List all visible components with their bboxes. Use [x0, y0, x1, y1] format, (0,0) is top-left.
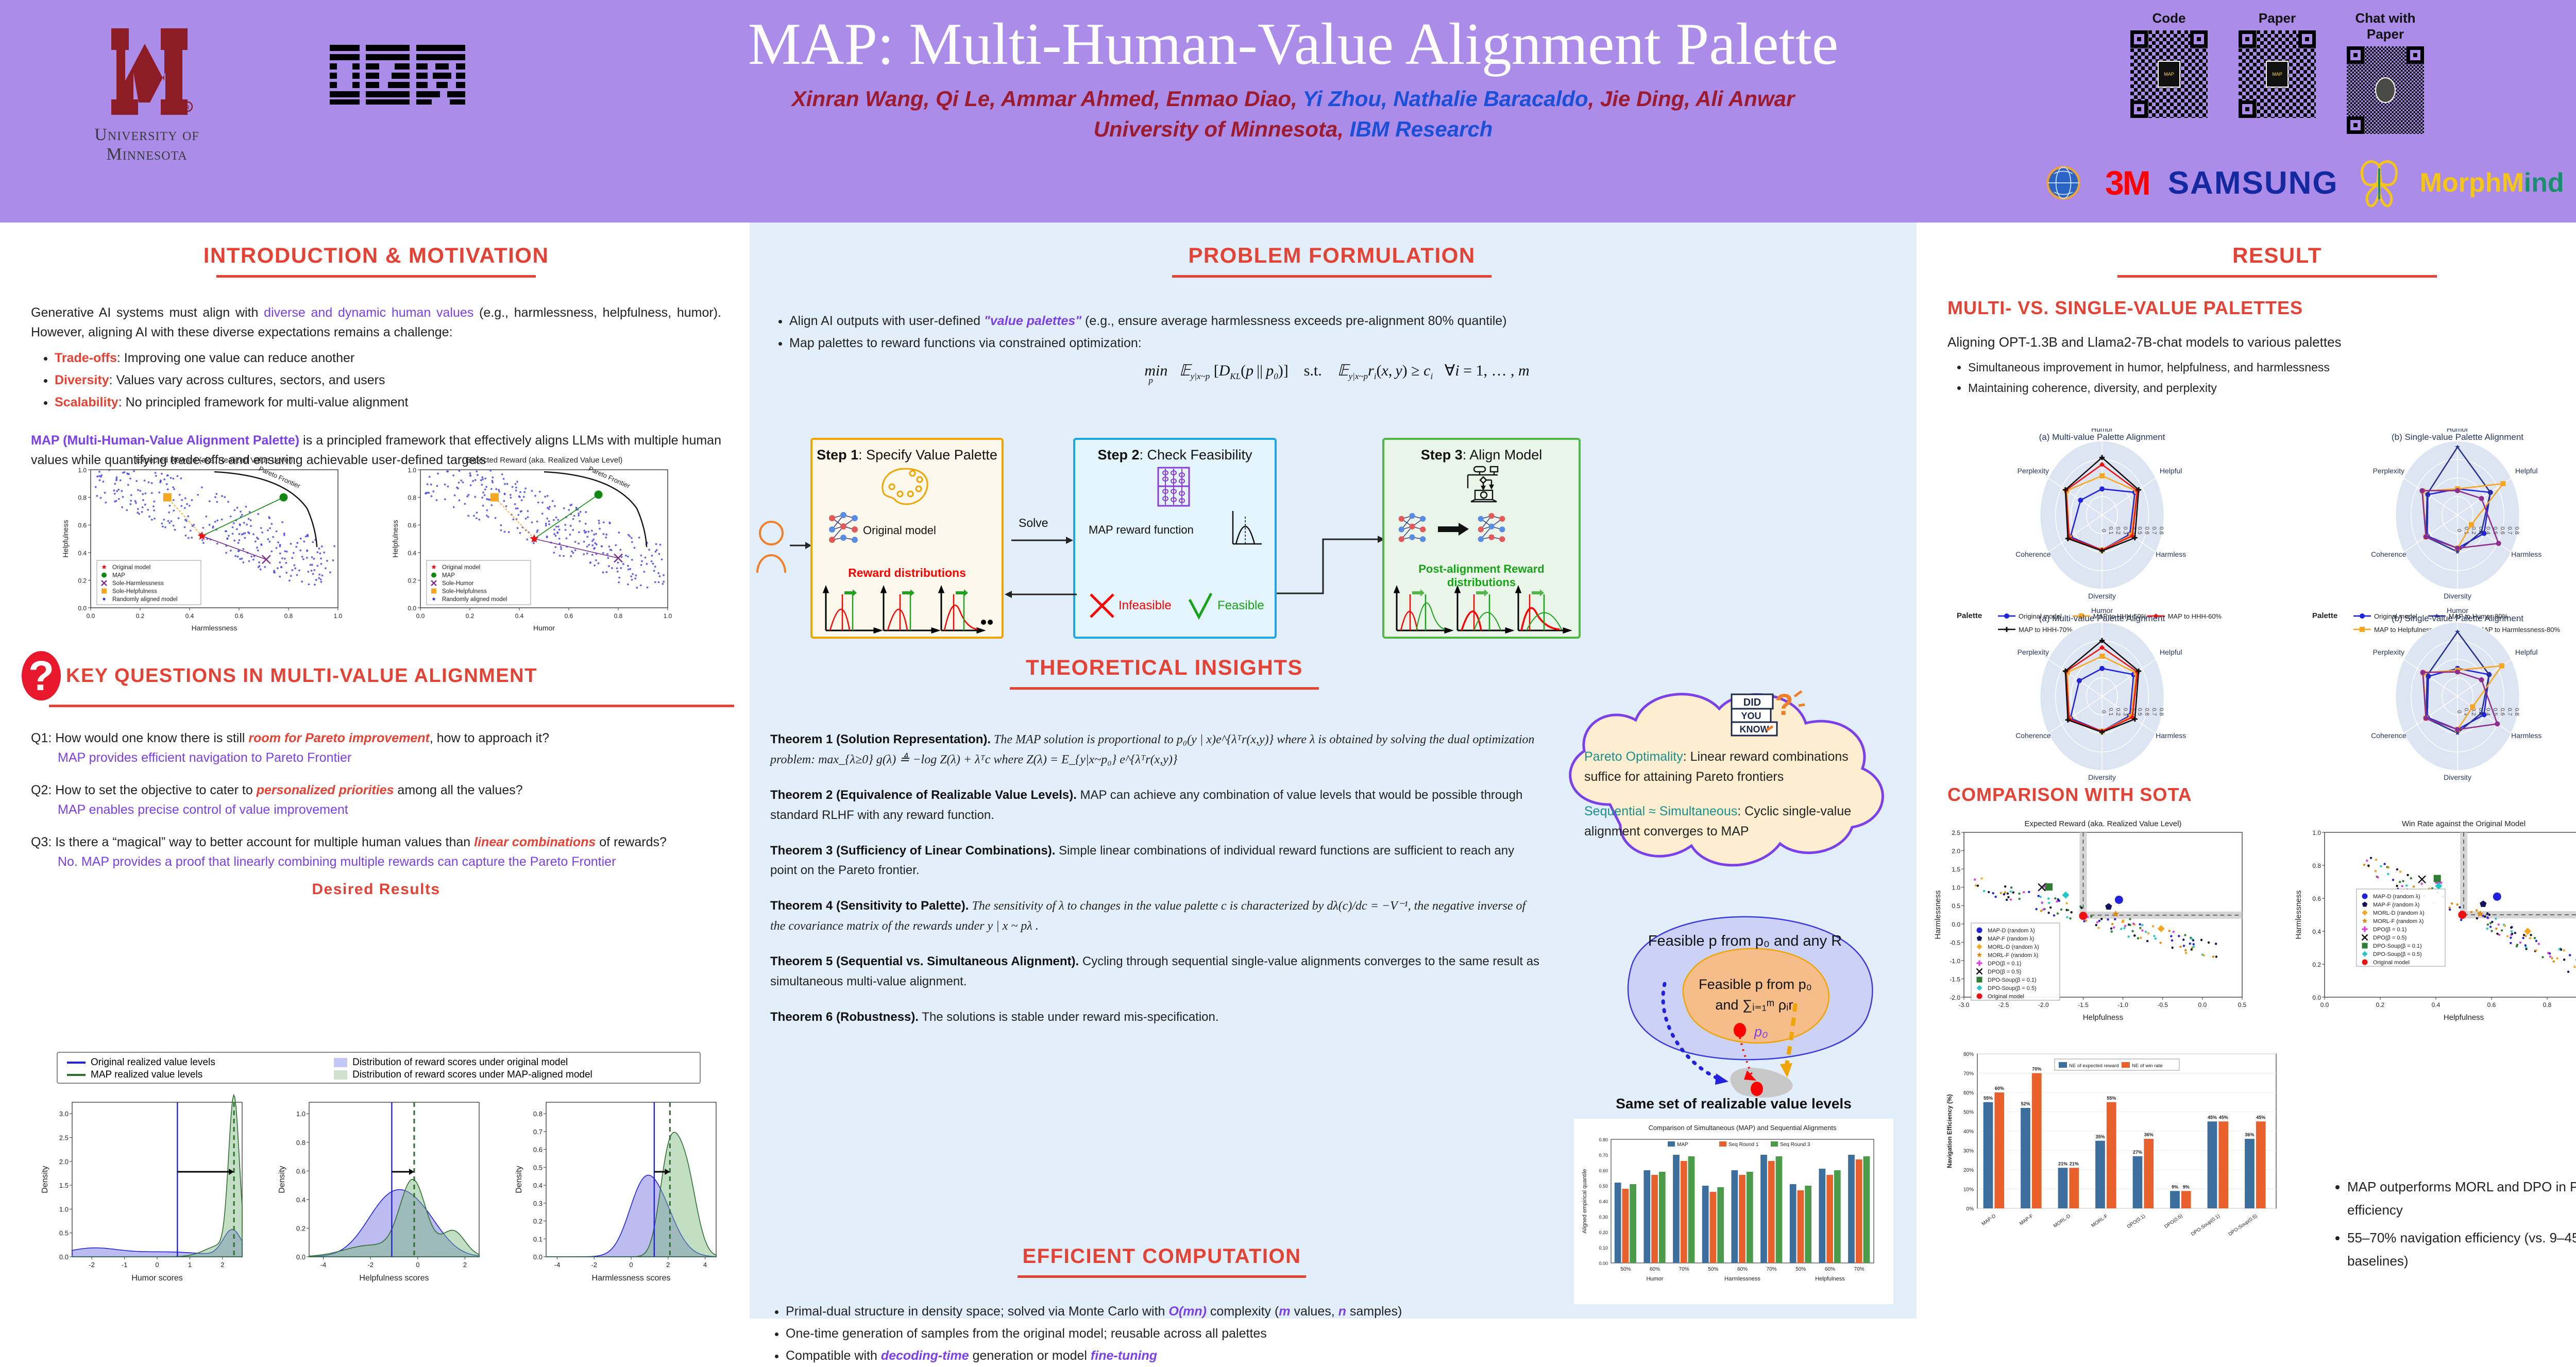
svg-text:0: 0 [2456, 529, 2462, 532]
svg-text:0.0: 0.0 [2320, 1001, 2329, 1009]
svg-text:MORL-F (random λ): MORL-F (random λ) [1988, 952, 2038, 959]
q3-highlight: linear combinations [474, 835, 596, 849]
svg-text:0.6: 0.6 [2499, 526, 2505, 534]
qr-center-logo: MAP [2266, 61, 2289, 88]
svg-text:0: 0 [629, 1261, 633, 1269]
svg-text:Density: Density [278, 1166, 286, 1193]
svg-text:0.2: 0.2 [136, 612, 145, 620]
did-you-know-badge: DID YOU KNOW ? [1723, 688, 1806, 740]
svg-text:0.0: 0.0 [78, 605, 87, 612]
q1-highlight: room for Pareto improvement [248, 731, 429, 745]
svg-text:0.0: 0.0 [416, 612, 425, 620]
umn-wordmark: University of Minnesota [64, 125, 229, 164]
arrow-icon [1438, 521, 1469, 537]
svg-text:Density: Density [515, 1166, 523, 1193]
qr-image-code[interactable]: MAP [2130, 30, 2208, 118]
arrow-icon [790, 539, 811, 552]
svg-text:MAP-D: MAP-D [1981, 1213, 1997, 1227]
svg-text:R: R [185, 105, 190, 111]
svg-text:Original model: Original model [1988, 994, 2024, 1000]
svg-text:1.0: 1.0 [408, 467, 416, 474]
svg-text:0.4: 0.4 [2312, 928, 2321, 935]
title-block: MAP: Multi-Human-Value Alignment Palette… [515, 14, 2071, 142]
qr-caption-paper: Paper [2231, 10, 2324, 26]
svg-text:35%: 35% [2095, 1134, 2105, 1139]
answer-2: MAP enables precise control of value imp… [58, 800, 732, 820]
arrow-icon [1011, 534, 1073, 546]
svg-text:0.7: 0.7 [2151, 708, 2157, 715]
svg-text:60%: 60% [1963, 1090, 1974, 1096]
page-title: MAP: Multi-Human-Value Alignment Palette [515, 14, 2071, 74]
svg-text:9%: 9% [2183, 1184, 2190, 1189]
svg-text:(b) Single-value Palette Align: (b) Single-value Palette Alignment [2392, 432, 2523, 442]
svg-text:-0.5: -0.5 [2157, 1001, 2168, 1009]
svg-text:0.80: 0.80 [1599, 1137, 1608, 1142]
svg-text:21%: 21% [2058, 1161, 2067, 1166]
svg-text:0: 0 [2100, 710, 2107, 713]
svg-text:Harmless: Harmless [2156, 731, 2186, 740]
list-item: Trade-offs: Improving one value can redu… [55, 347, 721, 369]
svg-text:(a) Multi-value Palette Alignm: (a) Multi-value Palette Alignment [2039, 432, 2165, 442]
svg-text:0.7: 0.7 [2506, 526, 2513, 534]
svg-text:0.0: 0.0 [1952, 921, 1960, 928]
svg-text:0.3: 0.3 [2122, 708, 2128, 715]
neural-network-icon [1396, 512, 1429, 546]
venn-outer-label: Feasible p from p₀ and any R [1648, 933, 1842, 949]
svg-text:0.8: 0.8 [296, 1139, 306, 1147]
qr-code-group: Code MAP Paper MAP Chat with Paper [2123, 10, 2442, 134]
svg-text:Harmless: Harmless [2511, 550, 2541, 558]
svg-text:Perplexity: Perplexity [2373, 467, 2404, 475]
svg-text:0.40: 0.40 [1599, 1199, 1608, 1204]
theorem-6-name: Theorem 6 (Robustness). [770, 1010, 919, 1024]
svg-text:0.6: 0.6 [235, 612, 244, 620]
svg-text:MORL-D (random λ): MORL-D (random λ) [1988, 944, 2039, 950]
section-title-theoretical-insights: THEORETICAL INSIGHTS [770, 655, 1558, 680]
svg-text:Helpfulness: Helpfulness [61, 520, 70, 557]
svg-text:70%: 70% [2032, 1067, 2041, 1072]
svg-text:Diversity: Diversity [2088, 773, 2116, 781]
svg-text:30%: 30% [1963, 1149, 1974, 1154]
svg-text:70%: 70% [1854, 1267, 1865, 1272]
svg-text:MAP-F: MAP-F [2019, 1213, 2035, 1226]
svg-text:DPO(0.5): DPO(0.5) [2163, 1213, 2183, 1229]
svg-text:MAP-F (random λ): MAP-F (random λ) [2373, 902, 2419, 908]
bullet-label: Scalability [55, 395, 118, 409]
q2-pre: Q2: How to set the objective to cater to [31, 783, 257, 797]
svg-text:KNOW: KNOW [1740, 724, 1769, 734]
svg-text:Humor: Humor [2447, 606, 2468, 614]
svg-text:55%: 55% [1984, 1096, 1993, 1101]
svg-text:NE of win rate: NE of win rate [2132, 1063, 2163, 1069]
pipeline-laptop-icon [1461, 466, 1506, 505]
svg-text:0.0: 0.0 [533, 1253, 543, 1261]
svg-text:50%: 50% [1620, 1267, 1631, 1272]
theorem-6-text: The solutions is stable under reward mis… [919, 1010, 1219, 1024]
svg-text:Helpful: Helpful [2160, 648, 2182, 656]
list-item: Compatible with decoding-time generation… [786, 1345, 1553, 1367]
svg-text:DPO(β = 0.1): DPO(β = 0.1) [1988, 961, 2021, 967]
svg-text:-4: -4 [554, 1261, 561, 1269]
venn-inner-label-2: and ∑ᵢ₌₁ᵐ ρᵢrᵢ [1715, 997, 1795, 1013]
svg-text:-1.5: -1.5 [2078, 1001, 2089, 1009]
svg-text:Coherence: Coherence [2015, 731, 2051, 740]
legend-swatch-original-line [67, 1062, 86, 1064]
three-step-diagram: Step 1: Specify Value Palette Original m… [750, 429, 1917, 645]
svg-text:0.1: 0.1 [533, 1235, 543, 1243]
svg-text:Diversity: Diversity [2444, 773, 2471, 781]
svg-text:Expected Reward (aka. Realized: Expected Reward (aka. Realized Value Lev… [466, 456, 623, 465]
radar-chart-grid: (a) Multi-value Palette AlignmentHumorHe… [1922, 429, 2576, 789]
gaussian-curve-icon [1230, 508, 1265, 548]
value-palettes-highlight: "value palettes" [984, 314, 1081, 328]
intro-paragraph-1: Generative AI systems must align with di… [31, 303, 721, 342]
step-2-rest: : Check Feasibility [1139, 447, 1252, 463]
theorem-6: Theorem 6 (Robustness). The solutions is… [770, 1007, 1543, 1028]
svg-text:-1: -1 [122, 1261, 128, 1269]
pareto-scatter-svg: Expected Reward (aka. Realized Value Lev… [46, 449, 716, 645]
neural-network-icon [826, 511, 861, 547]
map-acronym: MAP (Multi-Human-Value Alignment Palette… [31, 433, 299, 448]
svg-text:Sole-Helpfulness: Sole-Helpfulness [112, 589, 157, 595]
svg-text:2: 2 [463, 1261, 467, 1269]
pf-text-b: (e.g., ensure average harmlessness excee… [1081, 314, 1506, 328]
list-item: Simultaneous improvement in humor, helpf… [1968, 357, 2576, 378]
svg-text:0.2: 0.2 [78, 577, 87, 584]
svg-text:0.10: 0.10 [1599, 1245, 1608, 1251]
svg-text:0.3: 0.3 [2122, 526, 2128, 534]
svg-text:40%: 40% [1963, 1129, 1974, 1135]
svg-text:50%: 50% [1795, 1267, 1806, 1272]
svg-text:55%: 55% [2107, 1096, 2116, 1101]
svg-text:(b) Single-value Palette Align: (b) Single-value Palette Alignment [2392, 613, 2523, 623]
step-1-label: Step 1 [817, 447, 858, 463]
svg-text:-2.5: -2.5 [1998, 1001, 2009, 1009]
divider [1010, 687, 1319, 690]
post-alignment-mini-charts [1394, 585, 1574, 636]
svg-text:Sole-Helpfulness: Sole-Helpfulness [442, 589, 487, 595]
ibm-logo [330, 44, 469, 106]
svg-text:DPO-Soup(β = 0.1): DPO-Soup(β = 0.1) [2373, 943, 2422, 949]
svg-text:0.4: 0.4 [515, 612, 524, 620]
density-plot-row: -2-10120.00.51.01.52.02.53.0Humor scores… [21, 1093, 742, 1309]
qr-code-code[interactable]: Code MAP [2123, 10, 2215, 134]
original-model-label: Original model [863, 524, 936, 537]
svg-text:36%: 36% [2144, 1132, 2154, 1137]
svg-text:0.2: 0.2 [408, 577, 416, 584]
svg-text:Seq Round 3: Seq Round 3 [1780, 1142, 1810, 1148]
sota-bullets: MAP outperforms MORL and DPO in Pareto e… [2347, 1175, 2576, 1273]
svg-text:2: 2 [221, 1261, 224, 1269]
svg-text:MORL-F (random λ): MORL-F (random λ) [2373, 918, 2424, 925]
svg-text:Harmlessness: Harmlessness [2294, 890, 2303, 939]
svg-text:-2.0: -2.0 [1950, 994, 1960, 1001]
svg-text:-4: -4 [320, 1261, 327, 1269]
complexity-highlight: O(mn) [1168, 1304, 1207, 1319]
desired-results-title: Desired Results [21, 881, 732, 898]
svg-text:Helpful: Helpful [2515, 648, 2538, 656]
qr-center-logo: MAP [2158, 61, 2180, 88]
svg-text:MAP: MAP [442, 573, 455, 579]
svg-text:10%: 10% [1963, 1187, 1974, 1193]
svg-text:0.8: 0.8 [533, 1110, 543, 1118]
theorem-1: Theorem 1 (Solution Representation). The… [770, 730, 1543, 770]
qr-code-paper[interactable]: Paper MAP [2231, 10, 2324, 134]
sponsor-samsung: SAMSUNG [2168, 165, 2338, 201]
svg-text:DPO-Soup(β = 0.5): DPO-Soup(β = 0.5) [2373, 951, 2422, 958]
fine-tuning-highlight: fine-tuning [1091, 1348, 1157, 1363]
theorem-5-name: Theorem 5 (Sequential vs. Simultaneous A… [770, 954, 1079, 968]
subsection-comparison-sota: COMPARISON WITH SOTA [1947, 784, 2576, 806]
svg-text:-2: -2 [367, 1261, 374, 1269]
infeasible-label: Infeasible [1118, 599, 1172, 613]
svg-text:0.0: 0.0 [59, 1253, 69, 1261]
svg-text:DPO(β = 0.5): DPO(β = 0.5) [2373, 935, 2406, 941]
svg-text:0.0: 0.0 [408, 605, 416, 612]
svg-text:60%: 60% [1825, 1267, 1835, 1272]
theorem-3-name: Theorem 3 (Sufficiency of Linear Combina… [770, 844, 1055, 858]
svg-text:MAP-F (random λ): MAP-F (random λ) [1988, 936, 2034, 942]
list-item: Scalability: No principled framework for… [55, 391, 721, 414]
university-of-minnesota-logo: R University of Minnesota [64, 23, 229, 164]
svg-text:1.5: 1.5 [1952, 866, 1960, 873]
svg-text:0.50: 0.50 [1599, 1184, 1608, 1189]
svg-text:1.0: 1.0 [1952, 884, 1960, 892]
svg-text:70%: 70% [1767, 1267, 1777, 1272]
svg-text:Diversity: Diversity [2444, 592, 2471, 600]
svg-text:0.4: 0.4 [408, 550, 416, 557]
pf-text-a: Align AI outputs with user-defined [789, 314, 984, 328]
qr-code-chat[interactable]: Chat with Paper [2339, 10, 2432, 134]
svg-text:-1.5: -1.5 [1950, 976, 1960, 983]
svg-text:2: 2 [666, 1261, 670, 1269]
umn-m-icon: R [92, 23, 202, 121]
venn-inner-label-1: Feasible p from p₀ [1699, 977, 1812, 992]
svg-text:Seq Round 1: Seq Round 1 [1728, 1142, 1759, 1148]
section-title-efficient-computation: EFFICIENT COMPUTATION [770, 1245, 1553, 1268]
list-item: One-time generation of samples from the … [786, 1323, 1553, 1345]
feasible-label: Feasible [1217, 599, 1264, 613]
step-2-label: Step 2 [1097, 447, 1139, 463]
svg-text:Sole-Harmlessness: Sole-Harmlessness [112, 580, 164, 587]
step-3-box: Step 3: Align Model [1382, 438, 1581, 639]
svg-text:0.4: 0.4 [296, 1196, 306, 1204]
svg-text:70%: 70% [1679, 1267, 1689, 1272]
step-1-rest: : Specify Value Palette [858, 447, 997, 463]
svg-text:0.0: 0.0 [296, 1253, 306, 1261]
svg-text:0.5: 0.5 [2137, 708, 2143, 715]
svg-text:Navigation Efficiency (%): Navigation Efficiency (%) [1946, 1094, 1953, 1168]
svg-text:0: 0 [155, 1261, 159, 1269]
ec2-text-a: Compatible with [786, 1348, 881, 1363]
step-1-title: Step 1: Specify Value Palette [812, 447, 1002, 463]
svg-text:Palette: Palette [2312, 611, 2337, 620]
svg-text:Perplexity: Perplexity [2018, 467, 2049, 475]
svg-text:Humor: Humor [533, 624, 555, 632]
list-item: Maintaining coherence, diversity, and pe… [1968, 378, 2576, 399]
pareto-optimality-label: Pareto Optimality [1584, 749, 1683, 764]
svg-text:-3.0: -3.0 [1959, 1001, 1970, 1009]
svg-text:Helpfulness: Helpfulness [391, 520, 399, 557]
map-reward-function-label: MAP reward function [1089, 523, 1194, 537]
svg-text:Humor: Humor [2447, 429, 2468, 433]
svg-text:MAP: MAP [112, 573, 125, 579]
divider [2117, 275, 2437, 278]
svg-text:0.8: 0.8 [408, 494, 416, 502]
svg-text:2.0: 2.0 [59, 1158, 69, 1166]
bullet-text: : Values vary across cultures, sectors, … [109, 373, 385, 387]
svg-text:2.5: 2.5 [59, 1134, 69, 1142]
svg-text:0.6: 0.6 [533, 1146, 543, 1154]
legend-label: MAP realized value levels [91, 1069, 202, 1081]
svg-text:0.5: 0.5 [2238, 1001, 2247, 1009]
svg-text:Helpful: Helpful [2160, 467, 2182, 475]
svg-text:0.8: 0.8 [78, 494, 87, 502]
svg-text:20%: 20% [1963, 1168, 1974, 1173]
svg-text:Humor: Humor [2091, 606, 2113, 614]
bullet-text: : Improving one value can reduce another [117, 351, 354, 365]
svg-text:0.2: 0.2 [296, 1224, 306, 1232]
svg-text:0.6: 0.6 [2487, 1001, 2496, 1009]
svg-text:Harmless: Harmless [2156, 550, 2186, 558]
svg-text:45%: 45% [2219, 1115, 2228, 1120]
svg-text:1.0: 1.0 [334, 612, 343, 620]
svg-text:Perplexity: Perplexity [2018, 648, 2049, 656]
svg-text:Palette: Palette [1957, 611, 1982, 620]
svg-text:NE of expected reward: NE of expected reward [2069, 1063, 2119, 1069]
svg-text:Win Rate against the Original: Win Rate against the Original Model [2402, 819, 2526, 828]
theorem-5: Theorem 5 (Sequential vs. Simultaneous A… [770, 952, 1543, 992]
svg-text:0.2: 0.2 [2470, 526, 2477, 534]
svg-text:MAP: MAP [1677, 1142, 1688, 1148]
list-item: Primal-dual structure in density space; … [786, 1301, 1553, 1323]
svg-text:0.4: 0.4 [533, 1182, 543, 1189]
globe-icon [2040, 160, 2087, 206]
qr-image-chat[interactable] [2347, 46, 2424, 134]
divider [1018, 1275, 1306, 1278]
legend-swatch-original-patch [334, 1058, 347, 1067]
svg-text:1.0: 1.0 [664, 612, 672, 620]
section-title-result: RESULT [1932, 243, 2576, 268]
svg-text:0.20: 0.20 [1599, 1230, 1608, 1235]
list-item: 55–70% navigation efficiency (vs. 9–45% … [2347, 1226, 2576, 1272]
svg-text:0.8: 0.8 [284, 612, 293, 620]
navigation-efficiency-chart: 0%10%20%30%40%50%60%70%80%Navigation Eff… [1937, 1041, 2298, 1268]
n-highlight: n [1338, 1304, 1346, 1319]
svg-text:MORL-F: MORL-F [2090, 1213, 2109, 1228]
step-3-rest: : Align Model [1463, 447, 1543, 463]
decoding-time-highlight: decoding-time [881, 1348, 969, 1363]
svg-text:0.6: 0.6 [2144, 708, 2150, 715]
svg-text:DPO-Soup(β = 0.5): DPO-Soup(β = 0.5) [1988, 985, 2037, 992]
svg-text:1: 1 [188, 1261, 192, 1269]
problem-equation: minp 𝔼y|x~p [DKL(p || p0)] s.t. 𝔼y|x~pri… [778, 362, 1896, 382]
feedback-arrow-icon [1005, 588, 1077, 601]
svg-text:0.1: 0.1 [2108, 526, 2114, 534]
svg-text:0.1: 0.1 [2463, 708, 2469, 715]
ec-text-c: values, [1291, 1304, 1338, 1319]
affil-umn: University of Minnesota, [1094, 117, 1344, 141]
svg-text:0.0: 0.0 [2312, 994, 2321, 1001]
svg-text:Perplexity: Perplexity [2373, 648, 2404, 656]
authors-red-b: , Jie Ding, Ali Anwar [1588, 87, 1795, 111]
svg-text:0.30: 0.30 [1599, 1215, 1608, 1220]
question-2: Q2: How to set the objective to cater to… [31, 781, 732, 800]
svg-text:DPO(β = 0.1): DPO(β = 0.1) [2373, 927, 2406, 933]
svg-text:0.3: 0.3 [533, 1200, 543, 1207]
svg-text:0.2: 0.2 [2312, 961, 2321, 968]
svg-text:2.0: 2.0 [1952, 848, 1960, 855]
svg-text:0.2: 0.2 [533, 1218, 543, 1225]
svg-text:Helpfulness: Helpfulness [2444, 1013, 2484, 1022]
svg-text:Harmlessness: Harmlessness [1724, 1276, 1760, 1282]
svg-text:1.0: 1.0 [2312, 829, 2321, 836]
legend-label: Distribution of reward scores under MAP-… [352, 1069, 592, 1081]
intro-challenge-list: Trade-offs: Improving one value can redu… [55, 347, 721, 414]
svg-text:MAP to HHH-70%: MAP to HHH-70% [2019, 626, 2073, 634]
svg-text:0.00: 0.00 [1599, 1261, 1608, 1266]
svg-text:3.0: 3.0 [59, 1110, 69, 1118]
svg-text:0.6: 0.6 [296, 1167, 306, 1175]
svg-text:Harmlessness: Harmlessness [192, 624, 238, 632]
reward-distribution-mini-charts [823, 585, 993, 636]
svg-text:0.5: 0.5 [2137, 526, 2143, 534]
result-bullets: Simultaneous improvement in humor, helpf… [1968, 357, 2576, 398]
svg-text:60%: 60% [1995, 1086, 2004, 1091]
m-highlight: m [1279, 1304, 1290, 1319]
list-item: Align AI outputs with user-defined "valu… [789, 310, 1896, 332]
svg-text:MAP-D (random λ): MAP-D (random λ) [2373, 894, 2420, 900]
pareto-scatter-pair: Expected Reward (aka. Realized Value Lev… [46, 449, 716, 645]
legend-label: Distribution of reward scores under orig… [352, 1057, 568, 1068]
svg-text:DPO-Soup(0.1): DPO-Soup(0.1) [2190, 1213, 2221, 1237]
svg-text:0.8: 0.8 [2543, 1001, 2552, 1009]
step-3-label: Step 3 [1421, 447, 1463, 463]
svg-text:?: ? [28, 653, 54, 699]
qr-image-paper[interactable]: MAP [2239, 30, 2316, 118]
svg-text:0.6: 0.6 [78, 522, 87, 529]
svg-text:1.0: 1.0 [59, 1205, 69, 1213]
svg-text:Original model: Original model [112, 565, 150, 571]
answer-3: No. MAP provides a proof that linearly c… [58, 852, 732, 872]
q1-post: , how to approach it? [430, 731, 549, 745]
svg-text:MORL-D: MORL-D [2053, 1213, 2072, 1229]
svg-text:-0.5: -0.5 [1950, 939, 1960, 946]
svg-text:MAP-D (random λ): MAP-D (random λ) [1988, 928, 2035, 934]
step-1-box: Step 1: Specify Value Palette Original m… [810, 438, 1004, 639]
svg-text:0.0: 0.0 [2198, 1001, 2207, 1009]
svg-text:Randomly aligned model: Randomly aligned model [112, 596, 178, 603]
svg-text:0.1: 0.1 [2108, 708, 2114, 715]
did-you-know-cloud: DID YOU KNOW ? Pareto Optimality: Linear… [1553, 676, 1909, 902]
svg-text:0.4: 0.4 [78, 550, 87, 557]
q1-pre: Q1: How would one know there is still [31, 731, 248, 745]
abacus-icon [1155, 466, 1192, 508]
butterfly-icon [2357, 158, 2401, 208]
theorem-3: Theorem 3 (Sufficiency of Linear Combina… [770, 841, 1543, 881]
theorem-1-name: Theorem 1 (Solution Representation). [770, 732, 991, 746]
efficient-bullets: Primal-dual structure in density space; … [786, 1301, 1553, 1367]
svg-text:DID: DID [1743, 697, 1761, 708]
question-1: Q1: How would one know there is still ro… [31, 729, 732, 748]
sequential-simultaneous-label: Sequential ≈ Simultaneous [1584, 804, 1737, 818]
svg-text:1.0: 1.0 [296, 1110, 306, 1118]
legend-swatch-map-patch [334, 1070, 347, 1080]
qr-caption-code: Code [2123, 10, 2215, 26]
svg-text:0.2: 0.2 [466, 612, 474, 620]
svg-text:DPO(β = 0.5): DPO(β = 0.5) [1988, 969, 2021, 975]
feasibility-venn-diagram: Feasible p from p₀ and any R Feasible p … [1564, 892, 1904, 1108]
